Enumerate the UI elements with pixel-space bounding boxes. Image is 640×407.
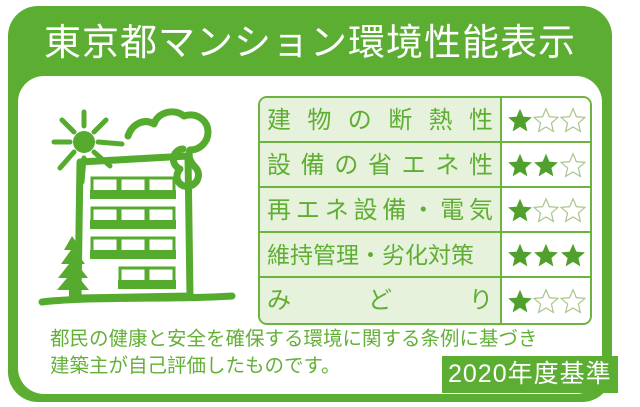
table-row: 再エネ設備・電気	[260, 188, 590, 233]
star-empty-icon	[560, 288, 586, 314]
performance-ratings-table: 建物の断熱性 設備の省エネ性	[258, 96, 592, 325]
cloud-icon	[128, 112, 208, 187]
table-row: 設備の省エネ性	[260, 143, 590, 188]
rating-label-text: 再エネ設備・電気	[267, 188, 493, 231]
rating-label-text: みどり	[267, 278, 493, 323]
disclaimer-text: 都民の健康と安全を確保する環境に関する条例に基づき 建築主が自己評価したものです…	[50, 326, 450, 380]
rating-stars-insulation	[502, 98, 590, 141]
ground-line	[42, 296, 232, 302]
star-filled-icon	[533, 152, 559, 178]
rating-label-renewable-energy: 再エネ設備・電気	[260, 188, 502, 231]
star-filled-icon	[507, 242, 533, 268]
page-title: 東京都マンション環境性能表示	[8, 22, 612, 64]
rating-stars-renewable-energy	[502, 188, 590, 231]
star-filled-icon	[507, 197, 533, 223]
rating-stars-maintenance	[502, 233, 590, 276]
rating-label-insulation: 建物の断熱性	[260, 98, 502, 141]
rating-label-text: 設備の省エネ性	[267, 143, 493, 186]
rating-stars-greenery	[502, 278, 590, 323]
table-row: みどり	[260, 278, 590, 323]
rating-label-text: 維持管理・劣化対策	[267, 233, 493, 276]
star-empty-icon	[533, 197, 559, 223]
star-filled-icon	[560, 242, 586, 268]
table-row: 建物の断熱性	[260, 98, 590, 143]
environmental-performance-plaque: 東京都マンション環境性能表示	[8, 6, 612, 402]
disclaimer-line-2: 建築主が自己評価したものです。	[50, 353, 450, 380]
star-empty-icon	[560, 152, 586, 178]
building-windows-icon	[90, 178, 176, 289]
table-row: 維持管理・劣化対策	[260, 233, 590, 278]
star-empty-icon	[533, 107, 559, 133]
sun-icon	[73, 131, 95, 153]
star-filled-icon	[507, 107, 533, 133]
rating-label-energy-saving: 設備の省エネ性	[260, 143, 502, 186]
star-filled-icon	[507, 152, 533, 178]
content-card: 建物の断熱性 設備の省エネ性	[18, 76, 602, 394]
standard-year-badge: 2020年度基準	[442, 356, 618, 393]
star-empty-icon	[560, 197, 586, 223]
star-empty-icon	[533, 288, 559, 314]
rating-stars-energy-saving	[502, 143, 590, 186]
rating-label-maintenance: 維持管理・劣化対策	[260, 233, 502, 276]
star-filled-icon	[507, 288, 533, 314]
star-empty-icon	[560, 107, 586, 133]
rating-label-text: 建物の断熱性	[267, 98, 493, 141]
rating-label-greenery: みどり	[260, 278, 502, 323]
tree-icon	[57, 236, 89, 290]
disclaimer-line-1: 都民の健康と安全を確保する環境に関する条例に基づき	[50, 326, 450, 353]
eco-building-illustration	[36, 90, 254, 322]
star-filled-icon	[533, 242, 559, 268]
